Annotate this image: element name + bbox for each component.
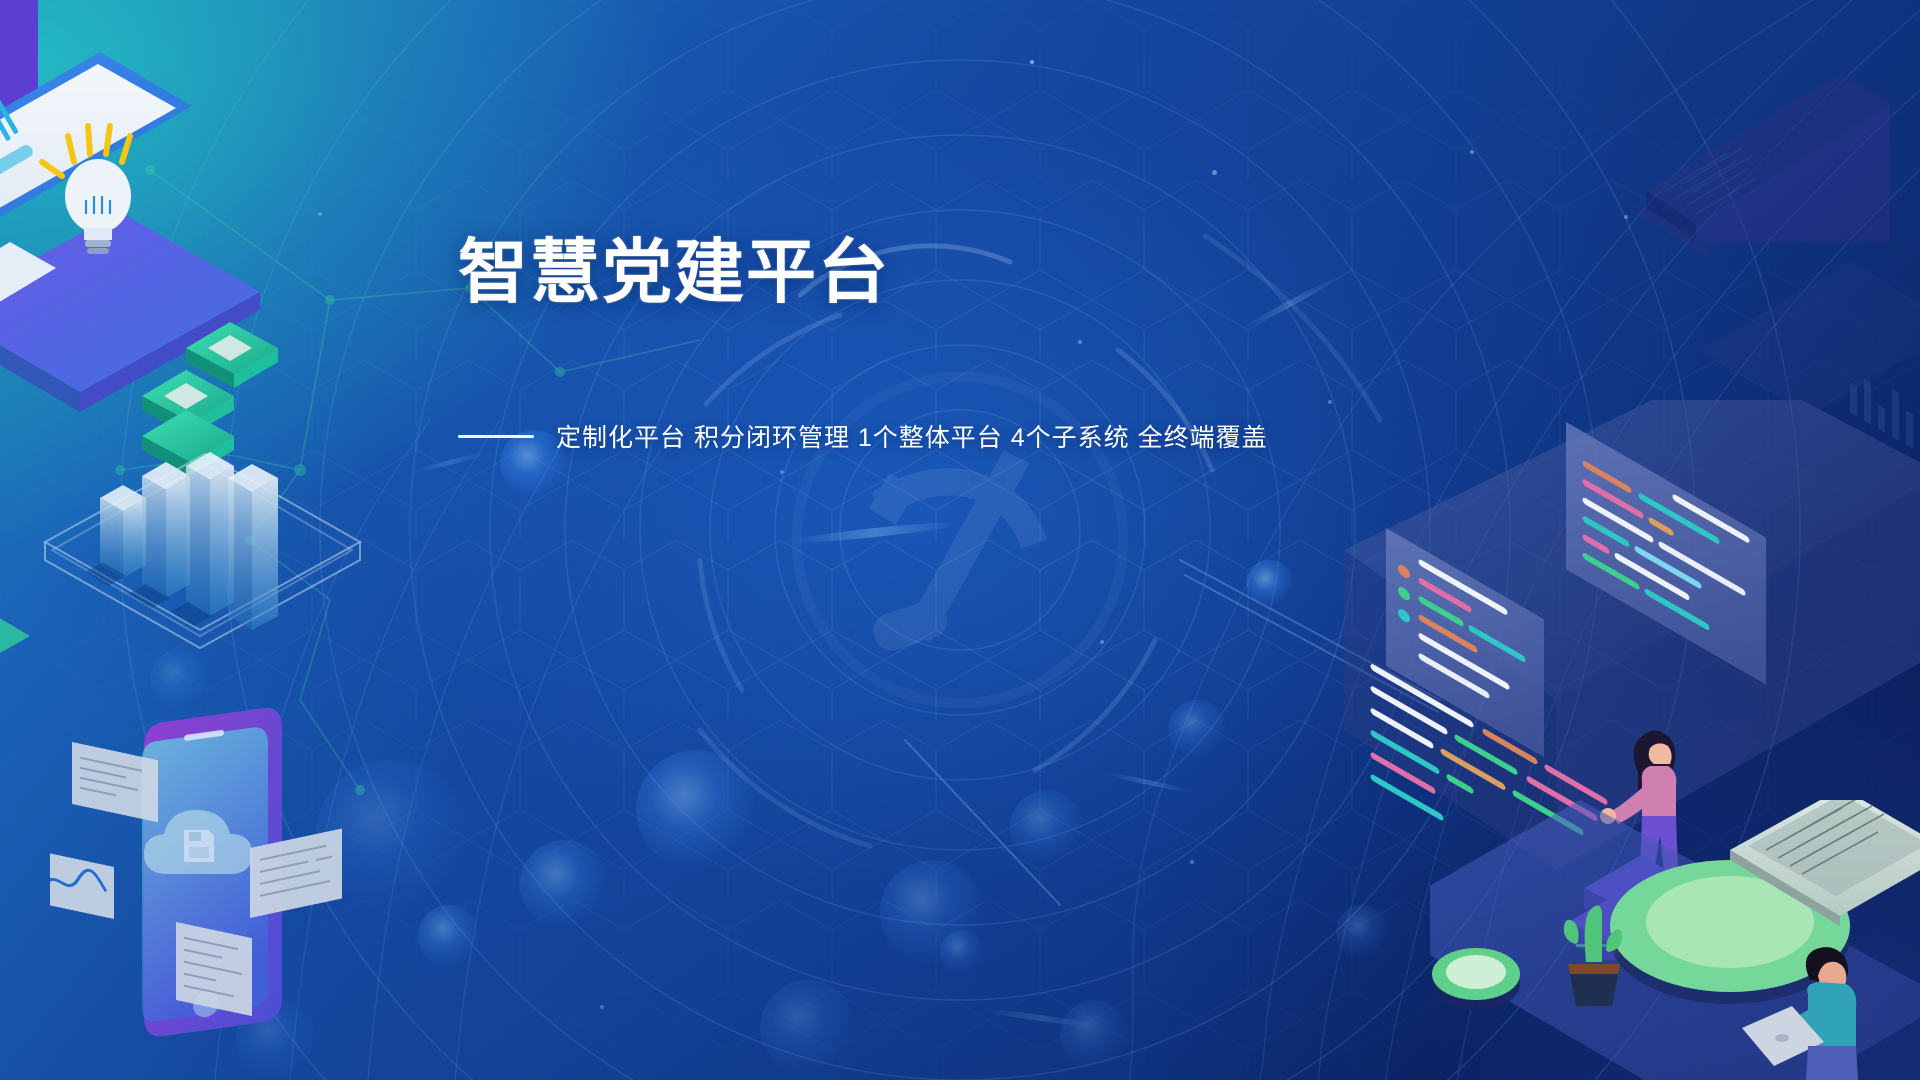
hero-text-block: 智慧党建平台 (458, 236, 890, 309)
bar-column-1 (100, 485, 146, 578)
desk-slab (0, 212, 260, 412)
subtitle-text: 定制化平台 积分闭环管理 1个整体平台 4个子系统 全终端覆盖 (556, 418, 1268, 454)
page-title: 智慧党建平台 (458, 236, 890, 309)
small-green-pad (1432, 948, 1520, 1010)
note-card (176, 922, 252, 1016)
bar-column-4 (228, 464, 278, 630)
illustration-right-workspace (1430, 800, 1920, 1080)
chart-card (50, 850, 114, 919)
bar-column-2 (142, 462, 190, 598)
bar-column-3 (186, 452, 234, 616)
subtitle-dash-icon (458, 435, 534, 438)
hero-banner: 智慧党建平台 定制化平台 积分闭环管理 1个整体平台 4个子系统 全终端覆盖 (0, 0, 1920, 1080)
illustration-top-right-panel (1700, 230, 1920, 490)
green-slab (0, 616, 30, 678)
illustration-smartphone-cloud (50, 700, 370, 1060)
subtitle-row: 定制化平台 积分闭环管理 1个整体平台 4个子系统 全终端覆盖 (458, 418, 1268, 454)
